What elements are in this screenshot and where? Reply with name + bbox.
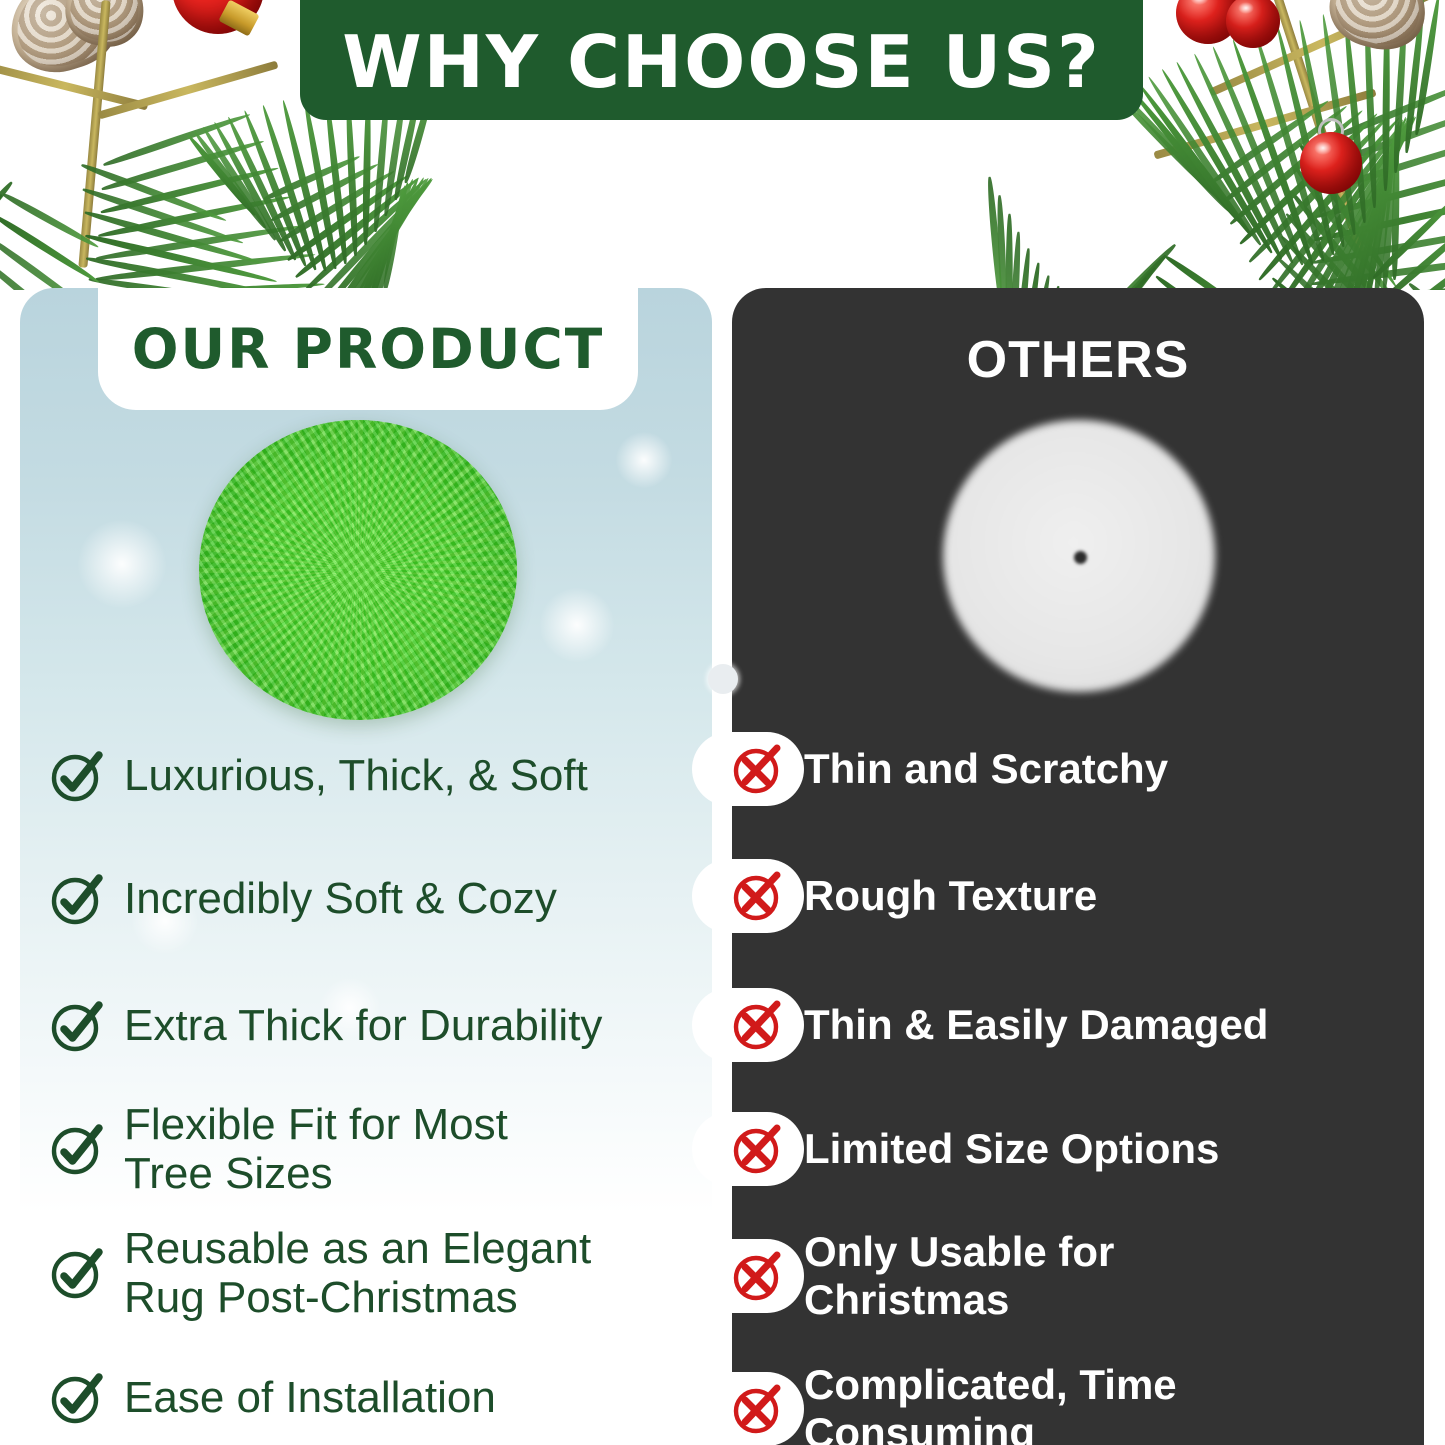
list-item-text: Extra Thick for Durability [124, 1001, 602, 1050]
list-item-text: Limited Size Options [804, 1125, 1219, 1173]
check-icon [46, 995, 108, 1057]
list-item-text: Only Usable for Christmas [804, 1228, 1114, 1324]
ornament-glint [1190, 0, 1209, 5]
list-item-text: Thin and Scratchy [804, 745, 1168, 793]
others-heading: OTHERS [967, 331, 1190, 389]
list-item: Thin and Scratchy [700, 706, 1424, 832]
cross-icon [726, 1245, 788, 1307]
check-icon [46, 1242, 108, 1304]
list-item-text: Ease of Installation [124, 1373, 496, 1422]
ornament-glint [1238, 2, 1254, 14]
snow-dot [78, 520, 166, 608]
list-item-text: Incredibly Soft & Cozy [124, 874, 557, 923]
list-item: Ease of Installation [20, 1338, 712, 1445]
our-product-heading-pill: OUR PRODUCT [98, 288, 638, 410]
page-title: WHY CHOOSE US? [342, 20, 1101, 120]
check-icon [46, 745, 108, 807]
others-heading-wrap: OTHERS [732, 330, 1424, 390]
list-item: Complicated, Time Consuming [700, 1344, 1424, 1445]
cross-icon [726, 738, 788, 800]
list-item: Extra Thick for Durability [20, 962, 712, 1090]
snow-dot [540, 588, 614, 662]
list-item: Incredibly Soft & Cozy [20, 836, 712, 962]
cross-icon [726, 1118, 788, 1180]
list-item-text: Reusable as an Elegant Rug Post-Christma… [124, 1224, 591, 1323]
check-icon [46, 1118, 108, 1180]
others-drawback-list: Thin and Scratchy Rough Texture [700, 706, 1424, 1445]
green-tree-skirt-image [199, 420, 517, 720]
list-item: Limited Size Options [700, 1090, 1424, 1208]
list-item: Flexible Fit for Most Tree Sizes [20, 1090, 712, 1208]
cross-icon [726, 994, 788, 1056]
list-item-text: Complicated, Time Consuming [804, 1361, 1177, 1445]
snow-dot [616, 432, 672, 488]
pine-branch-icon [0, 0, 320, 290]
list-item: Thin & Easily Damaged [700, 960, 1424, 1090]
list-item: Reusable as an Elegant Rug Post-Christma… [20, 1208, 712, 1338]
check-icon [46, 1367, 108, 1429]
title-banner: WHY CHOOSE US? [300, 0, 1143, 120]
list-item-text: Luxurious, Thick, & Soft [124, 751, 588, 800]
check-icon [46, 868, 108, 930]
list-item: Luxurious, Thick, & Soft [20, 716, 712, 836]
list-item-text: Rough Texture [804, 872, 1097, 920]
our-product-heading: OUR PRODUCT [132, 317, 605, 381]
list-item-text: Flexible Fit for Most Tree Sizes [124, 1100, 508, 1199]
tree-skirt-center-hole [708, 664, 738, 694]
ornament-glint [1314, 141, 1333, 155]
red-ornament-icon [1300, 132, 1362, 194]
list-item: Rough Texture [700, 832, 1424, 960]
cross-icon [726, 865, 788, 927]
list-item: Only Usable for Christmas [700, 1208, 1424, 1344]
cross-icon [726, 1378, 788, 1440]
infographic-page: WHY CHOOSE US? OUR PRODUCT OTHERS [0, 0, 1445, 1445]
pine-needle-icon [1163, 254, 1279, 290]
list-item-text: Thin & Easily Damaged [804, 1001, 1268, 1049]
our-product-feature-list: Luxurious, Thick, & Soft Incredibly Soft… [20, 716, 712, 1445]
plain-skirt-center-hole [1074, 551, 1087, 564]
